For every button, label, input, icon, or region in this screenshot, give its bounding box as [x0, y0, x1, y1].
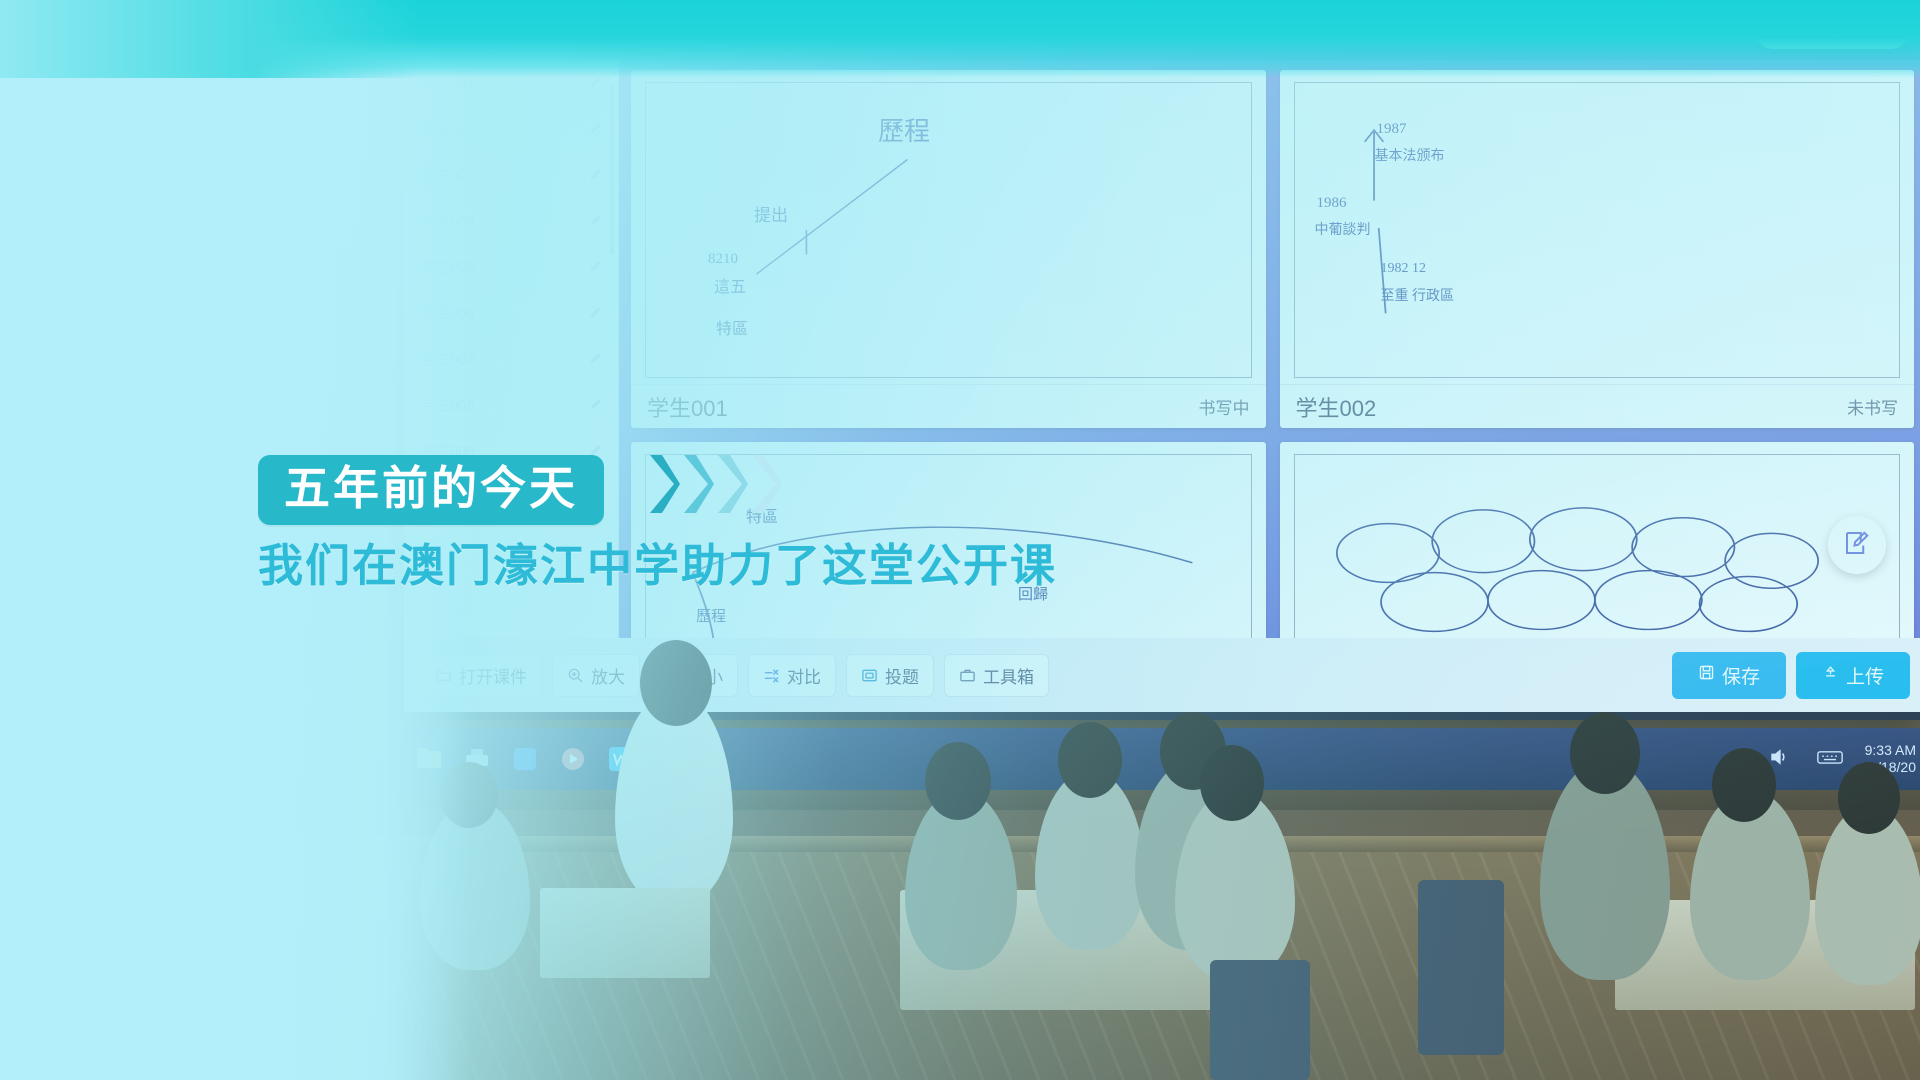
sidebar-item-student[interactable]: 学生004 [404, 198, 618, 244]
toolbox-icon [959, 667, 976, 684]
handwriting-strokes [1295, 455, 1900, 638]
bottom-toolbar: 打开课件 放大 缩小 对比 投题 [404, 638, 1920, 712]
project-question-button[interactable]: 投题 [846, 654, 934, 697]
save-label: 保存 [1722, 662, 1760, 689]
person-head [1712, 748, 1776, 822]
ink-text: 歷程 [696, 605, 726, 626]
app-header: 同屏互动课堂 【历史课堂】 进入考试模式 [404, 0, 1920, 60]
ink-text: 基本法颁布 [1375, 145, 1445, 165]
double-chevron-right-icon [648, 453, 784, 515]
edit-note-icon [1842, 528, 1872, 563]
chair [1210, 960, 1310, 1080]
chevron-up-icon[interactable]: ▲ [608, 66, 616, 78]
student-desk [540, 888, 710, 978]
ink-text: 至重 行政區 [1381, 285, 1455, 305]
enter-exam-mode-label: 进入考试模式 [1790, 17, 1892, 42]
ink-text: 這五 [714, 273, 746, 297]
board-canvas[interactable]: 自主答题 [1294, 454, 1901, 638]
student-board-card[interactable]: 自主答题 歷程 提出 8210 這五 特區 学生00 [631, 70, 1266, 428]
zoom-in-button[interactable]: 放大 [552, 654, 640, 697]
tool-label: 放大 [591, 663, 625, 688]
open-courseware-button[interactable]: 打开课件 [420, 654, 542, 697]
pencil-icon[interactable] [589, 352, 602, 365]
tool-label: 打开课件 [459, 663, 527, 688]
scrollbar-thumb[interactable] [610, 84, 614, 254]
ink-text: 1986 [1317, 195, 1347, 212]
projector-icon [861, 667, 878, 684]
zoom-in-icon [567, 667, 584, 684]
pencil-icon[interactable] [589, 76, 602, 89]
tool-label: 投题 [885, 663, 919, 688]
ink-text: 1982 12 [1381, 261, 1427, 277]
person-head [440, 762, 498, 828]
floppy-disk-icon [1698, 664, 1715, 687]
board-footer: 学生001 书写中 [631, 384, 1266, 428]
sidebar-item-label: 学生006 [420, 302, 475, 323]
pencil-icon[interactable] [589, 214, 602, 227]
sidebar-item-label: 学生002 [420, 118, 475, 139]
person-head [1200, 745, 1264, 821]
compare-button[interactable]: 对比 [748, 654, 836, 697]
sidebar-item-label: 学生001 [420, 72, 475, 93]
person-head [925, 742, 991, 820]
tool-label: 对比 [787, 663, 821, 688]
student-board-card[interactable]: 自主答题 1987 基本法颁布 1986 中葡談判 1982 12 至重 行政區 [1280, 70, 1915, 428]
board-caption: 自主答题 [1581, 82, 1613, 83]
sidebar-item-student[interactable]: 学生001 [404, 60, 618, 106]
sidebar-item-label: 学生005 [420, 256, 475, 277]
board-student-name: 学生001 [647, 391, 728, 423]
clock-time: 9:33 AM [1865, 742, 1916, 758]
sidebar-item-label: 学生007 [420, 348, 475, 369]
pencil-icon[interactable] [589, 260, 602, 273]
sidebar-item-student[interactable]: 学生008 [404, 382, 618, 428]
media-player-icon[interactable] [558, 744, 588, 774]
sidebar-item-student[interactable]: 学生003 [404, 152, 618, 198]
file-explorer-icon[interactable] [414, 744, 444, 774]
sidebar-item-student[interactable]: 学生005 [404, 244, 618, 290]
app-subtitle: 【历史课堂】 [548, 17, 650, 42]
pencil-icon[interactable] [589, 122, 602, 135]
ink-text: 特區 [716, 315, 748, 339]
sidebar-item-student[interactable]: 学生007 [404, 336, 618, 382]
tool-label: 工具箱 [983, 663, 1034, 688]
app-title: 同屏互动课堂 [420, 16, 534, 42]
board-caption: 自主答题 [1581, 454, 1613, 455]
student-board-card[interactable]: 自主答题 [1280, 442, 1915, 638]
board-canvas[interactable]: 自主答题 歷程 提出 8210 這五 特區 [645, 82, 1252, 378]
board-caption: 自主答题 [932, 82, 964, 83]
sidebar-item-label: 学生008 [420, 394, 475, 415]
ink-text: 提出 [754, 201, 788, 226]
ink-text: 1987 [1377, 121, 1407, 138]
person-head [1058, 722, 1122, 798]
person-head [640, 640, 712, 726]
person-head [1838, 762, 1900, 834]
toolbox-button[interactable]: 工具箱 [944, 654, 1049, 697]
person-head [1570, 712, 1640, 794]
edit-note-fab-button[interactable] [1828, 516, 1886, 574]
board-student-name: 学生002 [1296, 391, 1377, 423]
folder-open-icon [435, 667, 452, 684]
projection-screen: 同屏互动课堂 【历史课堂】 进入考试模式 学生001 [400, 0, 1920, 720]
ink-text: 8210 [708, 251, 738, 268]
compare-icon [763, 667, 780, 684]
board-canvas[interactable]: 自主答题 1987 基本法颁布 1986 中葡談判 1982 12 至重 行政區 [1294, 82, 1901, 378]
board-status: 书写中 [1199, 394, 1250, 419]
board-status: 未书写 [1847, 394, 1898, 419]
enter-exam-mode-button[interactable]: 进入考试模式 [1754, 10, 1910, 49]
upload-label: 上传 [1846, 662, 1884, 689]
upload-cloud-icon [1822, 664, 1839, 687]
ink-text: 中葡談判 [1315, 219, 1371, 239]
promo-subtitle: 我们在澳门濠江中学助力了这堂公开课 [258, 541, 1057, 591]
sidebar-item-student[interactable]: 学生002 [404, 106, 618, 152]
interactive-classroom-app: 同屏互动课堂 【历史课堂】 进入考试模式 学生001 [404, 0, 1920, 712]
promo-badge: 五年前的今天 [258, 455, 604, 525]
screenshot-root: 同屏互动课堂 【历史课堂】 进入考试模式 学生001 [0, 0, 1920, 1080]
upload-button[interactable]: 上传 [1796, 652, 1910, 699]
pencil-icon[interactable] [589, 398, 602, 411]
sidebar-item-label: 学生003 [420, 164, 475, 185]
pencil-icon[interactable] [589, 306, 602, 319]
keyboard-icon[interactable] [1814, 744, 1844, 774]
pencil-icon[interactable] [589, 168, 602, 181]
ink-text: 歷程 [878, 111, 930, 148]
enter-arrow-icon [1768, 21, 1784, 37]
promo-headline: 五年前的今天 我们在澳门濠江中学助力了这堂公开课 [258, 455, 1057, 591]
board-footer: 学生002 未书写 [1280, 384, 1915, 428]
sidebar-item-student[interactable]: 学生006 [404, 290, 618, 336]
app-blue-icon[interactable] [510, 744, 540, 774]
save-button[interactable]: 保存 [1672, 652, 1786, 699]
sidebar-item-label: 学生004 [420, 210, 475, 231]
chair [1418, 880, 1504, 1055]
